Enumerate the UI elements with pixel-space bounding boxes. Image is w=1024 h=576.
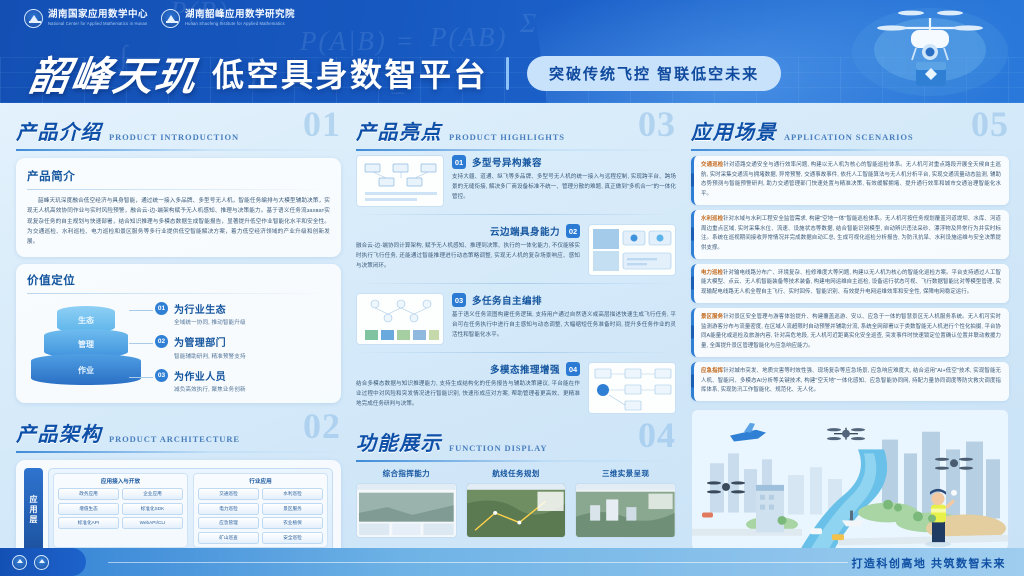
section-title-en: PRODUCT ARCHITECTURE [109,434,240,447]
section-header-product-architecture: 产品架构 PRODUCT ARCHITECTURE 02 [16,418,341,448]
highlight-title: 云边端具身能力 [490,224,560,238]
highlight-item: 01 多型号异构兼容 支持大疆、道通、纵飞等多品牌、多型号无人机的统一接入与远程… [356,155,676,207]
section-title-en: APPLICATION SCENARIOS [784,132,914,145]
footer-slogan: 打造科创高地 共筑数智未来 [851,555,1006,571]
value-heading: 价值定位 [27,272,330,288]
highlight-thumbnail [356,155,444,207]
institute-seal-icon [161,9,180,28]
layer-group: 行业应用 交通巡检 水利巡检 电力巡检 景区服务 应急管理 农业植保 矿山巡查 … [193,473,328,548]
scenario-item: 交通巡检针对道路交通安全与通行效率问题, 构建以无人机为核心的智能巡检体系。无人… [691,156,1009,205]
section-number: 05 [971,103,1009,145]
highlight-number: 03 [452,293,466,307]
poster-root: P(B) P(A|B) = P(AB) E ≥ ∫ Σ 湖南国家应用数学中心 N… [0,0,1024,576]
footer-logo-badge [0,548,86,576]
highlight-item: 03 多任务自主编排 基于语义任务流图构建任务逻辑, 支持用户通过自然语义或高层… [356,293,676,345]
arch-cell: 标准化API [58,517,120,529]
highlight-title: 多型号异构兼容 [472,155,542,169]
highlight-item: 云边端具身能力 02 融合云-边-端协同计算架构, 赋予无人机感知、推理到决策、… [356,224,676,276]
brand-divider [506,57,509,90]
arch-cell: 政务应用 [58,488,120,500]
brand-tagline: 突破传统飞控 智联低空未来 [527,56,781,91]
scenario-item: 电力巡检针对输电线路分布广、环境复杂、检修难度大等问题, 构建以无人机为核心的智… [691,264,1009,303]
architecture-layer-application: 应用层 应用接入与开放 政务应用 企业应用 增值生态 标准化SDK 标准化API… [24,468,333,553]
scenario-key: 应急指挥 [701,368,723,374]
section-rule [356,149,676,151]
arch-cell: 交通巡检 [198,488,260,500]
highlight-text: 基于语义任务流图构建任务逻辑, 支持用户通过自然语义或高层描述快速生成飞行任务,… [452,311,676,341]
value-item: 01 为行业生态 全域统一协同, 推动智能升级 [155,301,330,327]
scenario-item: 应急指挥针对城市突发、地质灾害等时效性强、现场复杂等应急场景, 应急响应难度大,… [691,362,1009,401]
product-intro-card: 产品简介 韶峰天玑深度融合低空经济与具身智能，通过统一接入多品牌、多型号无人机，… [16,158,341,257]
value-title: 为作业人员 [174,368,246,383]
logo-name-cn: 湖南国家应用数学中心 [48,10,148,20]
intro-paragraph: 韶峰天玑深度融合低空经济与具身智能，通过统一接入多品牌、多型号无人机，智能任务编… [27,196,330,248]
section-title-en: FUNCTION DISPLAY [449,443,547,456]
command-dashboard-screenshot[interactable] [356,483,457,538]
section-rule [691,149,1009,151]
highlight-item: 多模态推理增强 04 结合多模态数据与知识推理能力, 支持生成结构化的任务报告与… [356,362,676,414]
section-header-function-display: 功能展示 FUNCTION DISPLAY 04 [356,427,676,457]
highlight-text: 支持大疆、道通、纵飞等多品牌、多型号无人机的统一接入与远程控制, 实现跨平台、跨… [452,173,676,203]
scenario-list: 交通巡检针对道路交通安全与通行效率问题, 构建以无人机为核心的智能巡检体系。无人… [691,156,1009,401]
smart-city-lowaltitude-scene [691,409,1009,551]
arch-cell: 应急管理 [198,517,260,529]
scenario-item: 水利巡检针对水域与水利工程安全监管需求, 构建"空地一体"智能巡检体系。无人机可… [691,210,1009,259]
intro-heading: 产品简介 [27,168,330,184]
section-number: 04 [638,414,676,456]
scenario-key: 景区服务 [701,314,723,320]
arch-cell: 标准化SDK [122,503,184,515]
section-header-application-scenarios: 应用场景 APPLICATION SCENARIOS 05 [691,116,1009,146]
value-title: 为管理部门 [174,334,246,349]
arch-cell: 矿山巡查 [198,532,260,544]
organization-logos: 湖南国家应用数学中心 National Center for Applied M… [24,9,295,28]
section-number: 01 [303,103,341,145]
divider [356,283,676,284]
value-title: 为行业生态 [174,301,246,316]
logo-unit: 湖南韶峰应用数学研究院 Hunan Shaofeng Institute for… [161,9,295,28]
layer-label: 应用层 [24,468,43,553]
highlight-title: 多任务自主编排 [472,293,542,307]
arch-cell: 电力巡检 [198,503,260,515]
value-badge: 02 [155,335,168,348]
section-rule [16,451,341,453]
brand-block: 韶峰天玑 低空具身数智平台 突破传统飞控 智联低空未来 [30,44,781,102]
value-badge: 03 [155,369,168,382]
poster-header: P(B) P(A|B) = P(AB) E ≥ ∫ Σ 湖南国家应用数学中心 N… [0,0,1024,103]
institute-seal-icon [12,555,27,570]
highlight-number: 02 [566,224,580,238]
section-rule [16,149,341,151]
section-number: 03 [638,103,676,145]
scenario-text: 针对输电线路分布广、环境复杂、检修难度大等问题, 构建以无人机为核心的智能化巡检… [701,270,1001,295]
arch-cell: WebAPI/CLI [122,517,184,529]
section-title-en: PRODUCT HIGHLIGHTS [449,132,565,145]
highlight-number: 01 [452,155,466,169]
3d-scene-screenshot[interactable] [575,483,676,538]
function-label: 综合指挥能力 [356,468,457,479]
scenario-text: 针对景区安全管理与游客体验提升、构建覆盖巡游、安以、应急于一体的智慧景区无人机服… [701,314,1001,349]
scenario-text: 针对城市突发、地质灾害等时效性强、现场复杂等应急场景, 应急响应难度大, 结合运… [701,368,1001,393]
value-subtitle: 智能辅助研判, 精准预警支持 [174,352,246,360]
scenario-text: 针对水域与水利工程安全监管需求, 构建"空地一体"智能巡检体系。无人机可按任务规… [701,216,1001,251]
column-middle: 产品亮点 PRODUCT HIGHLIGHTS 03 [356,116,676,576]
logo-name-cn: 湖南韶峰应用数学研究院 [185,10,295,20]
scenario-key: 电力巡检 [701,270,723,276]
logo-name-en: National Center for Applied Mathematics … [48,22,148,26]
value-item-list: 01 为行业生态 全域统一协同, 推动智能升级 02 为管理部门 智能辅助研判,… [151,301,330,394]
package-box-icon [916,62,946,86]
arch-cell: 农业植保 [262,517,324,529]
function-item: 三维实景呈现 [575,468,676,538]
arch-cell: 安全巡检 [262,532,324,544]
function-item: 综合指挥能力 [356,468,457,538]
pyramid-label: 作业 [78,365,94,376]
value-item: 02 为管理部门 智能辅助研判, 精准预警支持 [155,334,330,360]
scenario-item: 景区服务针对景区安全管理与游客体验提升、构建覆盖巡游、安以、应急于一体的智慧景区… [691,308,1009,357]
divider [27,293,330,294]
section-header-product-highlights: 产品亮点 PRODUCT HIGHLIGHTS 03 [356,116,676,146]
brand-calligraphy: 韶峰天玑 [25,44,202,102]
section-header-product-introduction: 产品介绍 PRODUCT INTRODUCTION 01 [16,116,341,146]
highlight-thumbnail [588,362,676,414]
value-subtitle: 减负高效执行, 聚焦业务创新 [174,385,246,393]
section-number: 02 [303,405,341,447]
divider [356,214,676,215]
value-pyramid-graphic: 生态 管理 作业 [27,304,145,390]
value-positioning-card: 价值定位 生态 管理 作业 01 为行业生态 全域统一协同, 推 [16,264,341,404]
section-title-cn: 应用场景 [691,116,777,145]
highlight-thumbnail [356,293,444,345]
section-title-cn: 产品亮点 [356,116,442,145]
footer-rule [108,562,848,563]
value-item: 03 为作业人员 减负高效执行, 聚焦业务创新 [155,368,330,394]
section-title-cn: 产品架构 [16,418,102,447]
scenario-key: 水利巡检 [701,216,723,222]
arch-cell: 增值生态 [58,503,120,515]
group-title: 行业应用 [197,477,324,485]
highlight-number: 04 [566,362,580,376]
group-title: 应用接入与开放 [57,477,184,485]
section-rule [356,460,676,462]
highlight-text: 融合云-边-端协同计算架构, 赋予无人机感知、推理到决策、执行的一体化能力, 不… [356,242,580,272]
route-planning-map-screenshot[interactable] [466,483,567,538]
section-title-cn: 产品介绍 [16,116,102,145]
institute-seal-icon [34,555,49,570]
section-title-en: PRODUCT INTRODUCTION [109,132,239,145]
section-title-cn: 功能展示 [356,427,442,456]
highlight-text: 结合多模态数据与知识推理能力, 支持生成结构化的任务报告与辅助决策建议, 平台能… [356,380,580,410]
pyramid-label: 生态 [78,315,94,326]
pyramid-label: 管理 [78,339,94,350]
logo-unit: 湖南国家应用数学中心 National Center for Applied M… [24,9,148,28]
arch-cell: 企业应用 [122,488,184,500]
function-label: 三维实景呈现 [575,468,676,479]
function-label: 航线任务规划 [466,468,567,479]
scenario-text: 针对道路交通安全与通行效率问题, 构建以无人机为核心的智能巡检体系。无人机可对重… [701,162,1001,197]
highlight-title: 多模态推理增强 [490,362,560,376]
poster-footer: 打造科创高地 共筑数智未来 [0,548,1024,576]
logo-name-en: Hunan Shaofeng Institute for Applied Mat… [185,22,295,26]
arch-cell: 水利巡检 [262,488,324,500]
brand-platform-name: 低空具身数智平台 [212,50,488,96]
scenario-key: 交通巡检 [701,162,723,168]
institute-seal-icon [24,9,43,28]
highlight-thumbnail [588,224,676,276]
value-badge: 01 [155,302,168,315]
arch-cell: 景区服务 [262,503,324,515]
divider [27,189,330,190]
layer-group: 应用接入与开放 政务应用 企业应用 增值生态 标准化SDK 标准化API Web… [53,473,188,548]
drone-illustration [780,0,1010,102]
column-right: 应用场景 APPLICATION SCENARIOS 05 交通巡检针对道路交通… [691,116,1009,576]
divider [356,352,676,353]
value-subtitle: 全域统一协同, 推动智能升级 [174,318,246,326]
column-left: 产品介绍 PRODUCT INTRODUCTION 01 产品简介 韶峰天玑深度… [16,116,341,576]
function-item: 航线任务规划 [466,468,567,538]
